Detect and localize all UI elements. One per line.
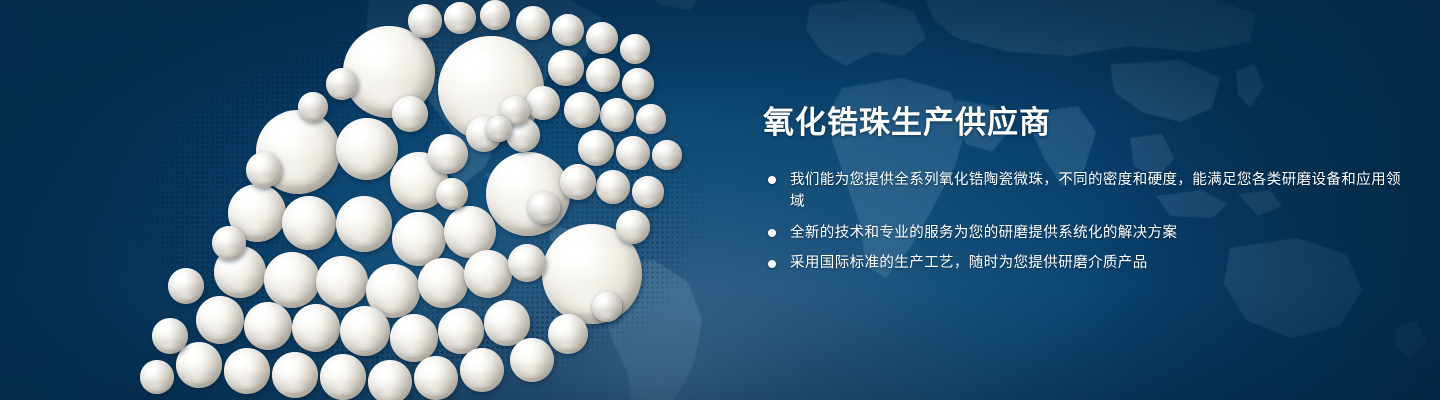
bead <box>460 348 504 392</box>
bead <box>272 352 318 398</box>
page-title: 氧化锆珠生产供应商 <box>763 104 1403 143</box>
bead <box>622 68 654 100</box>
bead <box>408 4 442 38</box>
list-item: 我们能为您提供全系列氧化锆陶瓷微珠，不同的密度和硬度，能满足您各类研磨设备和应用… <box>763 169 1403 214</box>
bead <box>526 86 560 120</box>
bead <box>486 152 570 236</box>
bead <box>464 250 512 298</box>
bead <box>140 360 174 394</box>
bead <box>652 140 682 170</box>
bullet-dot-icon <box>768 229 776 237</box>
bead <box>224 348 270 394</box>
bead <box>316 256 368 308</box>
bead <box>336 118 398 180</box>
banner-copy: 氧化锆珠生产供应商 我们能为您提供全系列氧化锆陶瓷微珠，不同的密度和硬度，能满足… <box>763 104 1403 275</box>
bead <box>152 318 188 354</box>
bead <box>336 196 392 252</box>
list-item-label: 我们能为您提供全系列氧化锆陶瓷微珠，不同的密度和硬度，能满足您各类研磨设备和应用… <box>790 172 1401 211</box>
bead <box>586 22 618 54</box>
bead <box>168 268 204 304</box>
list-item-label: 采用国际标准的生产工艺，随时为您提供研磨介质产品 <box>790 255 1148 271</box>
bead <box>438 308 484 354</box>
bead <box>620 34 650 64</box>
bead <box>564 92 600 128</box>
bead <box>616 210 650 244</box>
bead <box>340 306 390 356</box>
list-item: 全新的技术和专业的服务为您的研磨提供系统化的解决方案 <box>763 222 1403 245</box>
bead <box>418 258 468 308</box>
bead <box>392 96 428 132</box>
bead <box>282 196 336 250</box>
bead <box>390 314 438 362</box>
list-item-label: 全新的技术和专业的服务为您的研磨提供系统化的解决方案 <box>790 225 1177 241</box>
bullet-dot-icon <box>768 260 776 268</box>
bead <box>578 130 614 166</box>
bead <box>508 244 546 282</box>
bead <box>326 68 358 100</box>
bead <box>196 296 244 344</box>
bead <box>592 292 622 322</box>
bead <box>486 116 512 142</box>
bead <box>480 0 510 30</box>
bead <box>212 226 246 260</box>
bead <box>616 136 650 170</box>
bead <box>528 192 560 224</box>
bead <box>428 134 468 174</box>
bead <box>320 354 366 400</box>
bead <box>298 92 328 122</box>
bead <box>552 14 584 46</box>
bead <box>560 164 596 200</box>
bead <box>510 338 554 382</box>
bead <box>548 314 588 354</box>
bead <box>600 98 634 132</box>
bead <box>444 2 476 34</box>
zirconia-beads-image <box>0 0 760 400</box>
bead <box>246 152 282 188</box>
list-item: 采用国际标准的生产工艺，随时为您提供研磨介质产品 <box>763 252 1403 275</box>
feature-list: 我们能为您提供全系列氧化锆陶瓷微珠，不同的密度和硬度，能满足您各类研磨设备和应用… <box>763 169 1403 275</box>
bead <box>176 342 222 388</box>
bead <box>414 356 458 400</box>
bead <box>516 6 550 40</box>
bead <box>292 304 340 352</box>
bullet-dot-icon <box>768 176 776 184</box>
bead <box>596 170 630 204</box>
hero-banner: 氧化锆珠生产供应商 我们能为您提供全系列氧化锆陶瓷微珠，不同的密度和硬度，能满足… <box>0 0 1440 400</box>
bead <box>368 360 412 400</box>
bead <box>244 302 292 350</box>
bead <box>586 58 620 92</box>
bead <box>636 104 666 134</box>
bead <box>632 176 664 208</box>
bead <box>548 50 584 86</box>
bead <box>264 252 320 308</box>
bead <box>436 178 468 210</box>
